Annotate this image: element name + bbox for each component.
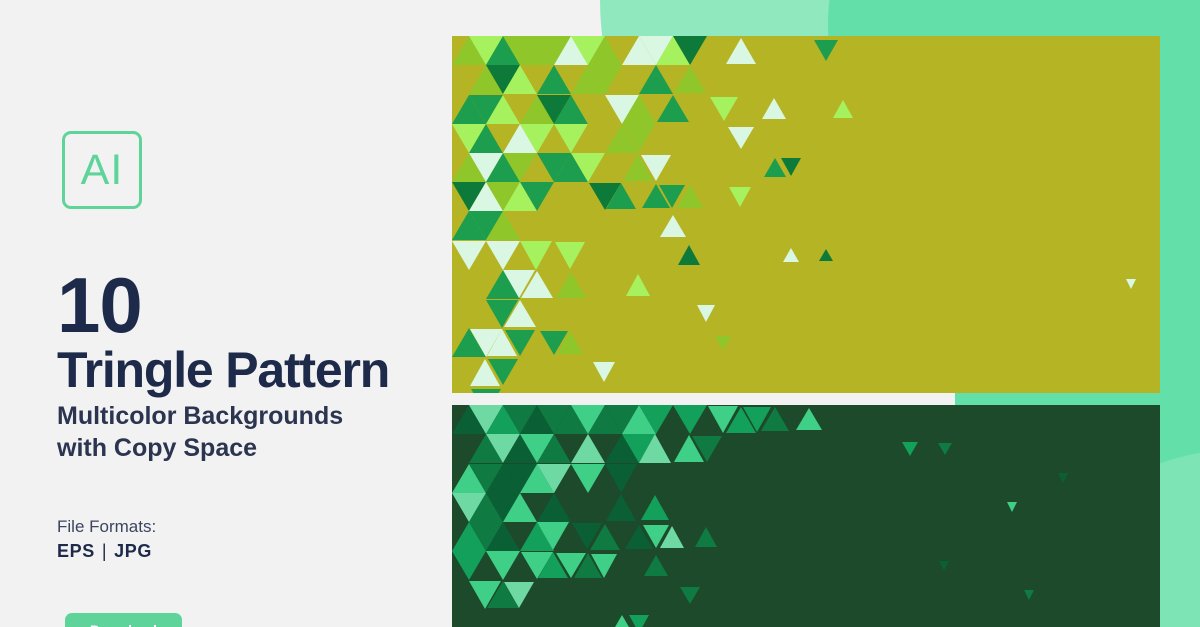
pattern-triangle [452, 551, 486, 580]
pattern-triangle [606, 183, 636, 209]
pattern-triangle [1126, 279, 1136, 289]
preview-card-olive[interactable] [452, 36, 1160, 393]
pattern-triangle [504, 300, 536, 327]
format-jpg: JPG [114, 541, 152, 561]
pattern-triangle [488, 359, 518, 385]
ai-format-badge: AI [62, 131, 142, 209]
format-eps: EPS [57, 541, 95, 561]
pattern-triangle [629, 615, 649, 627]
pattern-triangle [761, 407, 789, 431]
pattern-triangle [537, 493, 571, 522]
pattern-triangle [639, 434, 671, 463]
preview-card-green[interactable] [452, 405, 1160, 627]
pattern-triangle [639, 405, 673, 434]
pattern-triangle [606, 494, 636, 521]
pattern-triangle [571, 434, 605, 463]
format-separator: | [95, 541, 114, 561]
pattern-triangle [504, 582, 534, 608]
pattern-triangle [644, 555, 668, 576]
pattern-triangle [520, 241, 552, 270]
file-formats-label: File Formats: [57, 517, 156, 537]
file-formats-value: EPS|JPG [57, 541, 152, 562]
pattern-triangle [626, 274, 650, 296]
pattern-triangle [641, 495, 669, 520]
pattern-triangle [833, 100, 853, 118]
pattern-triangle [673, 36, 707, 65]
pattern-triangle [762, 98, 786, 119]
pattern-triangle [555, 242, 585, 269]
pattern-triangle [641, 155, 671, 181]
pattern-triangle [521, 271, 553, 298]
pattern-triangle [744, 437, 770, 460]
pattern-triangle [609, 554, 635, 577]
pattern-triangle [938, 443, 952, 455]
pattern-triangle [814, 40, 838, 61]
pattern-triangle [728, 127, 754, 149]
ai-badge-label: AI [81, 149, 124, 192]
pattern-triangle [520, 124, 554, 153]
pattern-triangle [639, 65, 673, 94]
pattern-triangle [486, 522, 520, 551]
pattern-triangle [1007, 502, 1017, 512]
pattern-triangle [715, 336, 731, 350]
pattern-triangle [1058, 473, 1068, 483]
pattern-triangle [711, 467, 737, 490]
pattern-triangle [729, 187, 751, 207]
pattern-triangle [588, 65, 622, 94]
pattern-triangle [673, 405, 707, 434]
pattern-triangle [1143, 279, 1153, 289]
pattern-triangle [471, 389, 501, 393]
pattern-triangle [503, 153, 537, 182]
pattern-triangle [520, 182, 554, 211]
pattern-triangle [657, 95, 689, 122]
pattern-triangle [556, 272, 586, 298]
pattern-triangle [640, 125, 670, 152]
pattern-triangle [486, 241, 520, 270]
pattern-triangle [674, 66, 706, 93]
pattern-triangle [486, 211, 520, 240]
item-count: 10 [57, 266, 142, 344]
pattern-triangle [452, 241, 486, 270]
pattern-triangle [1024, 590, 1034, 600]
triangle-mosaic-olive [452, 36, 1160, 393]
page-subtitle-line-2: with Copy Space [57, 432, 457, 464]
pattern-triangle [693, 126, 721, 150]
page-subtitle: Multicolor Backgrounds with Copy Space [57, 400, 457, 464]
pattern-triangle [692, 436, 722, 462]
pattern-triangle [732, 306, 748, 321]
page-subtitle-line-1: Multicolor Backgrounds [57, 400, 457, 432]
pattern-triangle [710, 97, 738, 121]
pattern-triangle [571, 153, 605, 182]
pattern-triangle [939, 561, 949, 571]
pattern-triangle [622, 95, 656, 124]
pattern-triangle [697, 305, 715, 322]
pattern-triangle [571, 464, 605, 493]
pattern-triangle [590, 524, 620, 550]
page-title: Tringle Pattern [57, 345, 389, 395]
pattern-triangle [678, 245, 700, 265]
pattern-triangle [537, 464, 571, 493]
pattern-triangle [902, 442, 918, 456]
pattern-triangle [571, 95, 605, 124]
pattern-triangle [486, 551, 520, 580]
pattern-triangle [503, 493, 537, 522]
pattern-triangle [783, 248, 799, 262]
pattern-triangle [677, 185, 703, 208]
pattern-triangle [696, 275, 716, 293]
pattern-triangle [819, 249, 833, 261]
info-panel: AI 10 Tringle Pattern Multicolor Backgro… [0, 0, 452, 627]
pattern-triangle [557, 331, 583, 354]
pattern-triangle [537, 522, 569, 550]
pattern-triangle [726, 38, 756, 64]
pattern-triangle [505, 330, 535, 356]
pattern-triangle [796, 408, 822, 430]
pattern-triangle [695, 527, 717, 547]
download-button[interactable]: Download [65, 613, 182, 627]
pattern-triangle [680, 587, 700, 604]
pattern-triangle [605, 464, 637, 493]
pattern-triangle [781, 158, 801, 176]
pattern-triangle [593, 362, 615, 382]
pattern-triangle [660, 215, 686, 237]
triangle-mosaic-green [452, 405, 1160, 627]
poster-canvas: AI 10 Tringle Pattern Multicolor Backgro… [0, 0, 1200, 627]
pattern-triangle [660, 526, 684, 548]
